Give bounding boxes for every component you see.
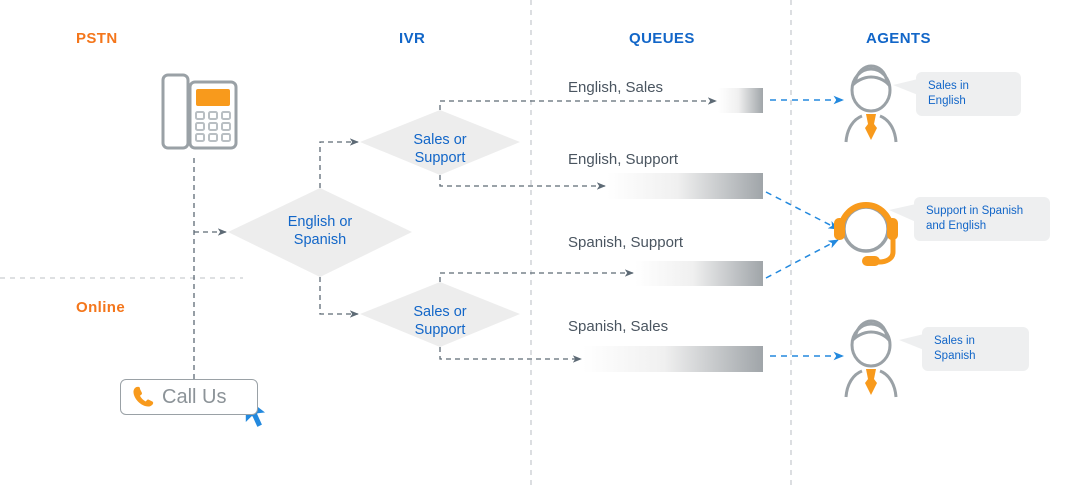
route-language-to-top-decision: [320, 142, 358, 188]
queue-label-spanish-sales: Spanish, Sales: [568, 318, 668, 335]
decision-label-line2: Support: [380, 321, 500, 339]
queue-bar-spanish-support: [635, 261, 763, 286]
route-language-to-bottom-decision: [320, 277, 358, 314]
agent-skill-callout-2: Support in Spanish and English: [914, 197, 1050, 241]
decision-label-line2: Spanish: [260, 231, 380, 249]
agent-icon-support-headset: [834, 205, 898, 266]
decision-label-sales-support-top: Sales or Support: [380, 131, 500, 167]
queue-bar-spanish-sales: [583, 346, 763, 372]
agent-skill-callout-3: Sales in Spanish: [922, 327, 1029, 371]
call-us-label: Call Us: [162, 386, 226, 409]
decision-label-line1: English or: [260, 213, 380, 231]
queue-label-english-sales: English, Sales: [568, 79, 663, 96]
queue-bar-english-sales: [718, 88, 763, 113]
agent-skill-line1: Support in Spanish: [926, 204, 1038, 219]
desk-phone-icon: [163, 75, 236, 148]
agent-skill-line1: Sales in English: [928, 79, 1009, 109]
decision-label-sales-support-bottom: Sales or Support: [380, 303, 500, 339]
route-to-queue-spanish-sales: [440, 347, 581, 359]
decision-label-line2: Support: [380, 149, 500, 167]
diagram-canvas: PSTN Online IVR QUEUES AGENTS: [0, 0, 1070, 488]
decision-label-english-spanish: English or Spanish: [260, 213, 380, 249]
route-to-queue-english-sales: [440, 101, 716, 110]
decision-label-line1: Sales or: [380, 303, 500, 321]
queue-bar-english-support: [607, 173, 763, 199]
route-queue-to-agent-2a: [766, 192, 838, 229]
queue-label-english-support: English, Support: [568, 151, 678, 168]
route-queue-to-agent-2b: [766, 240, 838, 278]
phone-handset-icon: [130, 384, 156, 410]
agent-skill-line1: Sales in Spanish: [934, 334, 1017, 364]
callout-tail-3: [899, 334, 924, 350]
call-us-button[interactable]: Call Us: [120, 379, 258, 415]
agent-icon-sales-spanish: [846, 321, 896, 397]
agent-icon-sales-english: [846, 66, 896, 142]
agent-skill-line2: and English: [926, 219, 1038, 234]
route-to-queue-english-support: [440, 175, 605, 186]
route-to-queue-spanish-support: [440, 273, 633, 282]
callout-tail-1: [893, 79, 918, 95]
decision-label-line1: Sales or: [380, 131, 500, 149]
agent-skill-callout-1: Sales in English: [916, 72, 1021, 116]
queue-label-spanish-support: Spanish, Support: [568, 234, 683, 251]
